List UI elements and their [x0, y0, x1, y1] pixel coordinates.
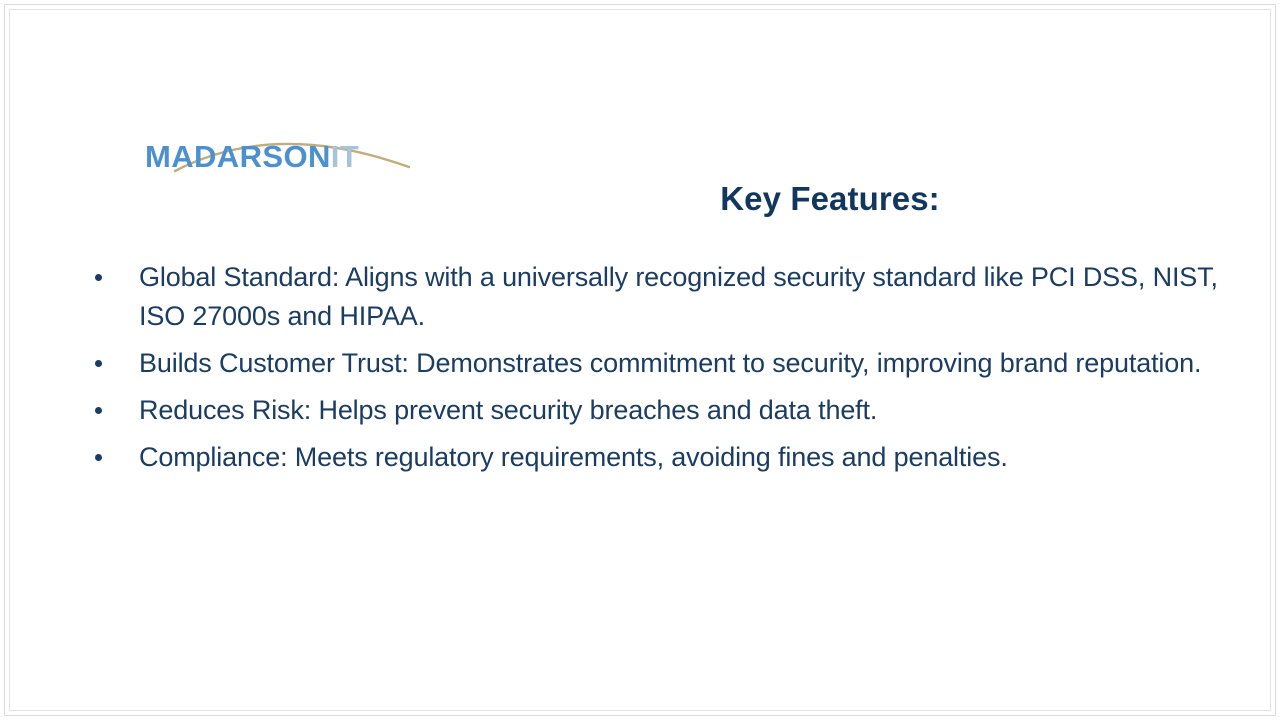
bullet-dot-icon	[95, 360, 102, 367]
list-item: Compliance: Meets regulatory requirement…	[84, 438, 1224, 477]
list-item: Reduces Risk: Helps prevent security bre…	[84, 391, 1224, 430]
list-item-text: Global Standard: Aligns with a universal…	[139, 258, 1224, 336]
logo-word-primary: MADARSON	[145, 139, 331, 174]
logo-wordmark: MADARSONIT	[145, 140, 425, 174]
bullet-dot-icon	[95, 454, 102, 461]
list-item-text: Reduces Risk: Helps prevent security bre…	[139, 391, 1224, 430]
page-title: Key Features:	[470, 178, 1190, 220]
madarson-it-logo: MADARSONIT	[135, 115, 425, 185]
slide-canvas: MADARSONIT Key Features: Global Standard…	[10, 10, 1270, 710]
list-item-text: Compliance: Meets regulatory requirement…	[139, 438, 1224, 477]
list-item-text: Builds Customer Trust: Demonstrates comm…	[139, 344, 1224, 383]
logo-word-secondary: IT	[331, 139, 359, 174]
bullet-dot-icon	[95, 274, 102, 281]
slide-frame: MADARSONIT Key Features: Global Standard…	[0, 0, 1280, 720]
bullet-dot-icon	[95, 407, 102, 414]
key-features-list: Global Standard: Aligns with a universal…	[84, 258, 1224, 485]
list-item: Builds Customer Trust: Demonstrates comm…	[84, 344, 1224, 383]
list-item: Global Standard: Aligns with a universal…	[84, 258, 1224, 336]
